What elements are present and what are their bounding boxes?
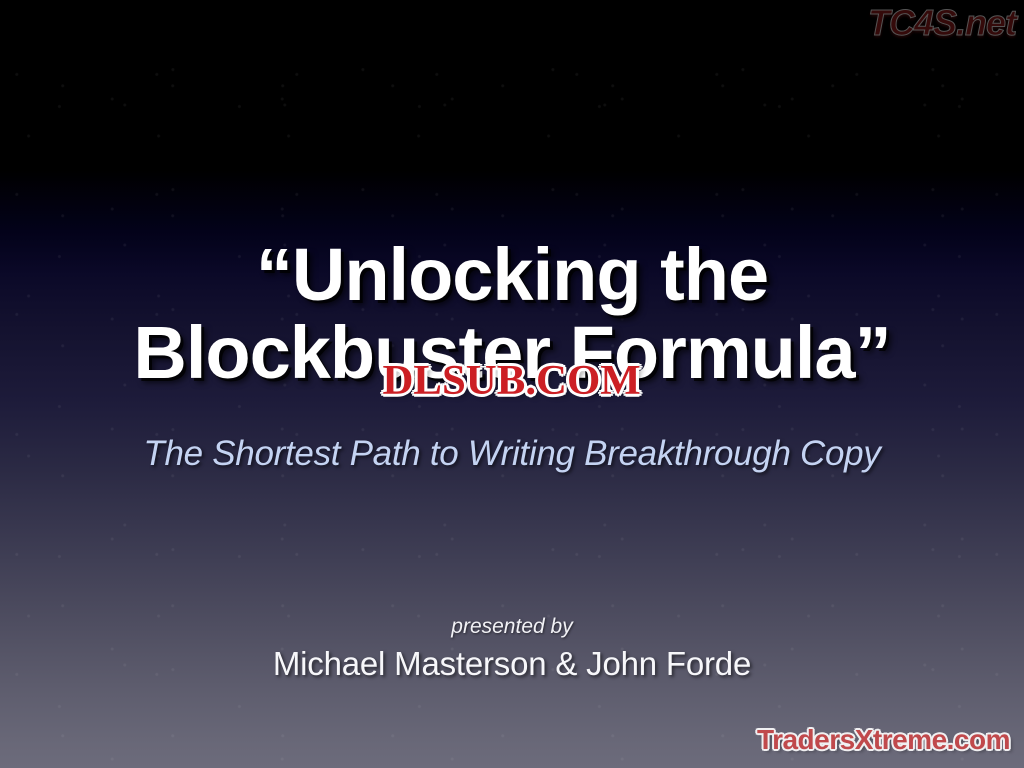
presentation-slide: TC4S.net “Unlocking the Blockbuster Form… xyxy=(0,0,1024,768)
presenter-names: Michael Masterson & John Forde xyxy=(0,645,1024,683)
watermark-tc4s-net: TC4S.net xyxy=(868,2,1016,44)
watermark-tradersxtreme-com-container: TradersXtreme.com xyxy=(757,724,1010,756)
watermark-tradersxtreme-com: TradersXtreme.com xyxy=(757,724,1010,756)
slide-title: “Unlocking the Blockbuster Formula” xyxy=(0,236,1024,393)
slide-title-line-1: “Unlocking the xyxy=(0,236,1024,314)
slide-title-line-2: Blockbuster Formula” xyxy=(0,314,1024,392)
slide-subtitle: The Shortest Path to Writing Breakthroug… xyxy=(0,434,1024,474)
presented-by-label: presented by xyxy=(0,615,1024,639)
